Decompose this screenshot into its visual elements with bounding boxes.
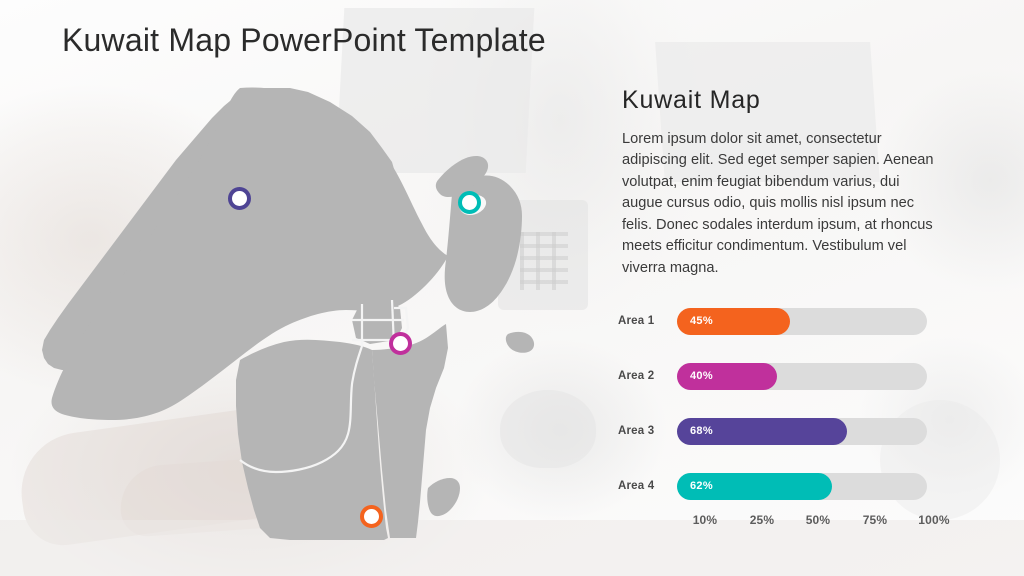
axis-tick-100: 100% xyxy=(918,513,950,527)
bar-label-area-2: Area 2 xyxy=(618,370,676,382)
bar-track-area-4[interactable]: 62% xyxy=(677,473,927,500)
bar-fill-area-2: 40% xyxy=(677,363,777,390)
bar-row-area-4[interactable]: Area 4 62% xyxy=(618,472,958,500)
panel-paragraph: Lorem ipsum dolor sit amet, consectetur … xyxy=(622,129,937,279)
kuwait-map[interactable] xyxy=(40,58,550,558)
axis-tick-50: 50% xyxy=(806,513,831,527)
bar-fill-area-4: 62% xyxy=(677,473,832,500)
info-panel: Kuwait Map Lorem ipsum dolor sit amet, c… xyxy=(622,86,952,279)
bar-label-area-4: Area 4 xyxy=(618,480,676,492)
bar-track-area-3[interactable]: 68% xyxy=(677,418,927,445)
axis-tick-75: 75% xyxy=(863,513,888,527)
chart-axis: 10% 25% 50% 75% 100% xyxy=(677,513,945,531)
map-marker-area-4[interactable] xyxy=(360,505,383,528)
map-marker-area-1[interactable] xyxy=(228,187,251,210)
page-title: Kuwait Map PowerPoint Template xyxy=(62,22,546,59)
map-marker-area-3[interactable] xyxy=(389,332,412,355)
map-marker-area-2[interactable] xyxy=(458,191,481,214)
bar-value-area-1: 45% xyxy=(690,315,713,327)
bar-track-area-2[interactable]: 40% xyxy=(677,363,927,390)
bar-fill-area-3: 68% xyxy=(677,418,847,445)
bar-row-area-1[interactable]: Area 1 45% xyxy=(618,307,958,335)
bar-fill-area-1: 45% xyxy=(677,308,790,335)
slide-canvas: Kuwait Map PowerPoint Template xyxy=(0,0,1024,576)
bar-value-area-3: 68% xyxy=(690,425,713,437)
bar-value-area-2: 40% xyxy=(690,370,713,382)
bar-value-area-4: 62% xyxy=(690,480,713,492)
bar-track-area-1[interactable]: 45% xyxy=(677,308,927,335)
bar-label-area-1: Area 1 xyxy=(618,315,676,327)
bar-row-area-3[interactable]: Area 3 68% xyxy=(618,417,958,445)
axis-tick-25: 25% xyxy=(750,513,775,527)
area-bar-chart: Area 1 45% Area 2 40% Area 3 68% xyxy=(618,303,958,543)
bar-label-area-3: Area 3 xyxy=(618,425,676,437)
bar-row-area-2[interactable]: Area 2 40% xyxy=(618,362,958,390)
axis-tick-10: 10% xyxy=(693,513,718,527)
panel-heading: Kuwait Map xyxy=(622,86,952,115)
